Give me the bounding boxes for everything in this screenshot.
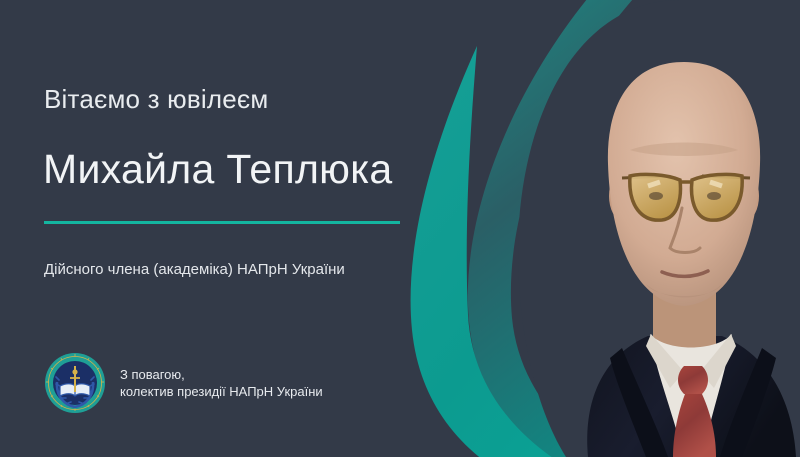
honoree-name: Михайла Теплюка <box>43 146 392 193</box>
divider <box>44 221 400 224</box>
tie <box>678 366 708 394</box>
signature-text: З повагою, колектив президії НАПрН Украї… <box>120 366 323 400</box>
napn-emblem-icon <box>44 352 106 414</box>
portrait-of-honoree <box>470 0 800 457</box>
signature-line-1: З повагою, <box>120 366 323 383</box>
eye-left <box>649 192 663 200</box>
anniversary-greeting-card: Вітаємо з ювілеєм Михайла Теплюка Дійсно… <box>0 0 800 457</box>
signature-line-2: колектив президії НАПрН України <box>120 383 323 400</box>
signature-block: З повагою, колектив президії НАПрН Украї… <box>44 352 323 414</box>
honoree-role: Дійсного члена (академіка) НАПрН України <box>44 261 345 278</box>
eye-right <box>707 192 721 200</box>
greeting-line: Вітаємо з ювілеєм <box>44 84 268 115</box>
